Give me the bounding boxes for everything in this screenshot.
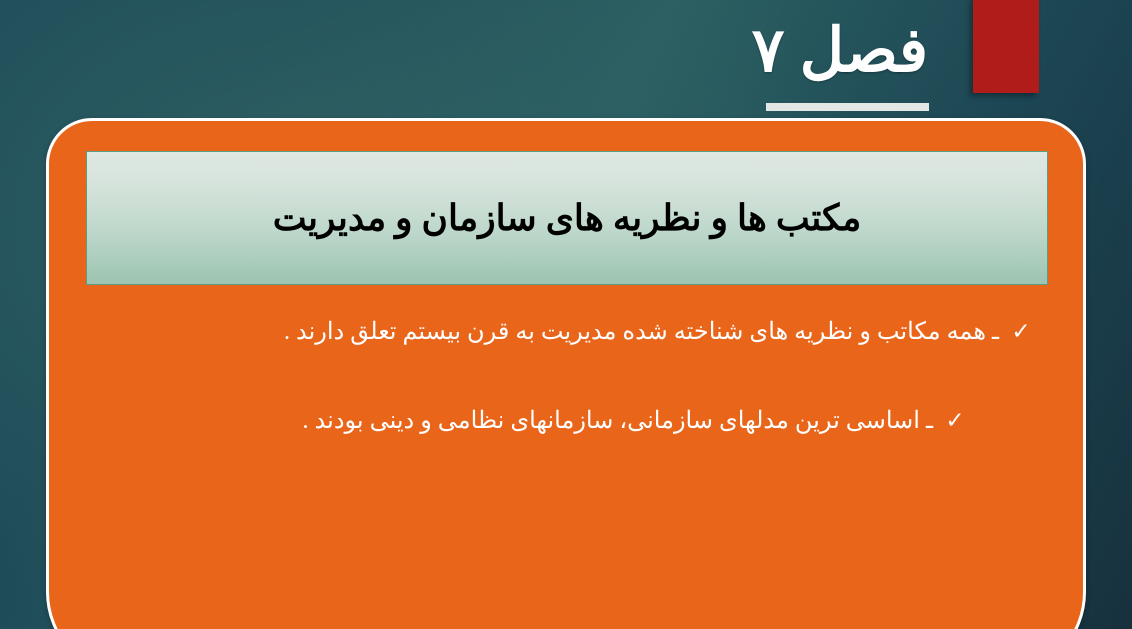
presentation-slide: فصل ۷ مکتب ها و نظریه های سازمان و مدیری…	[0, 0, 1132, 629]
list-item-text: ـ همه مکاتب و نظریه های شناخته شده مدیری…	[284, 316, 999, 350]
content-panel: مکتب ها و نظریه های سازمان و مدیریت ✓ ـ …	[46, 118, 1086, 629]
slide-heading: مکتب ها و نظریه های سازمان و مدیریت	[249, 196, 886, 241]
title-underline	[766, 103, 929, 111]
bullet-list: ✓ ـ همه مکاتب و نظریه های شناخته شده مدی…	[89, 316, 1043, 493]
list-item-text: ـ اساسی ترین مدلهای سازمانی، سازمانهای ن…	[303, 405, 933, 439]
heading-plate: مکتب ها و نظریه های سازمان و مدیریت	[86, 151, 1048, 285]
list-item: ✓ ـ اساسی ترین مدلهای سازمانی، سازمانهای…	[89, 405, 1043, 439]
red-accent-block	[973, 0, 1039, 93]
chapter-title: فصل ۷	[448, 20, 928, 84]
checkmark-icon: ✓	[933, 410, 977, 433]
list-item: ✓ ـ همه مکاتب و نظریه های شناخته شده مدی…	[89, 316, 1043, 350]
checkmark-icon: ✓	[999, 321, 1043, 344]
